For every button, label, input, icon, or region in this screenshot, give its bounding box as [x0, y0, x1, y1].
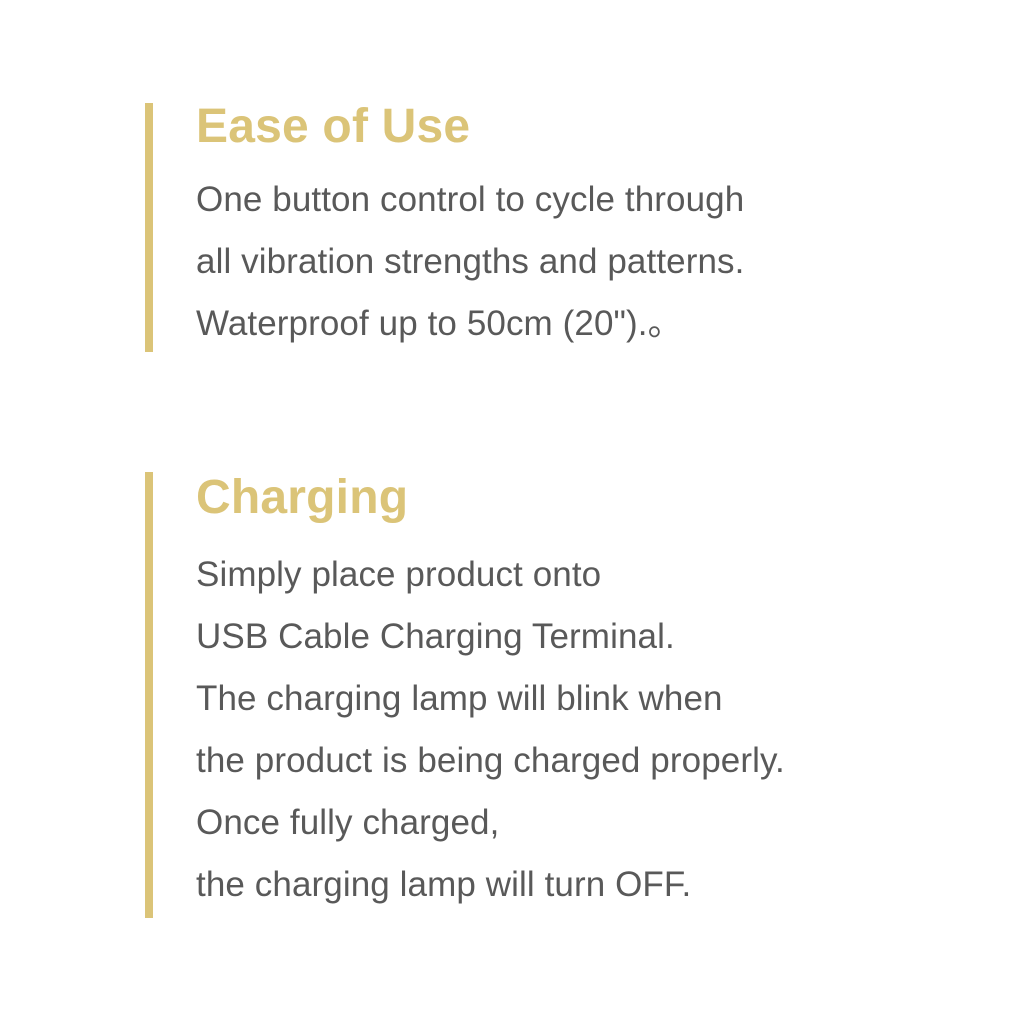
body-line: all vibration strengths and patterns. — [196, 231, 744, 293]
section-heading-charging: Charging — [196, 470, 785, 526]
section-heading-ease-of-use: Ease of Use — [196, 99, 744, 155]
accent-bar-charging — [145, 472, 153, 918]
product-feature-panel: Ease of Use One button control to cycle … — [0, 0, 1024, 1024]
section-lines-ease-of-use: One button control to cycle through all … — [196, 169, 744, 355]
accent-bar-ease-of-use — [145, 103, 153, 352]
body-line: the product is being charged properly. — [196, 730, 785, 792]
body-line: One button control to cycle through — [196, 169, 744, 231]
body-line: The charging lamp will blink when — [196, 668, 785, 730]
body-line: Waterproof up to 50cm (20").。 — [196, 293, 744, 355]
body-line: USB Cable Charging Terminal. — [196, 606, 785, 668]
section-ease-of-use: Ease of Use One button control to cycle … — [145, 103, 744, 352]
body-line: Simply place product onto — [196, 544, 785, 606]
section-body-charging: Charging Simply place product onto USB C… — [196, 472, 785, 916]
section-lines-charging: Simply place product onto USB Cable Char… — [196, 544, 785, 916]
body-line: Once fully charged, — [196, 792, 785, 854]
section-body-ease-of-use: Ease of Use One button control to cycle … — [196, 103, 744, 355]
section-charging: Charging Simply place product onto USB C… — [145, 472, 785, 918]
body-line: the charging lamp will turn OFF. — [196, 854, 785, 916]
